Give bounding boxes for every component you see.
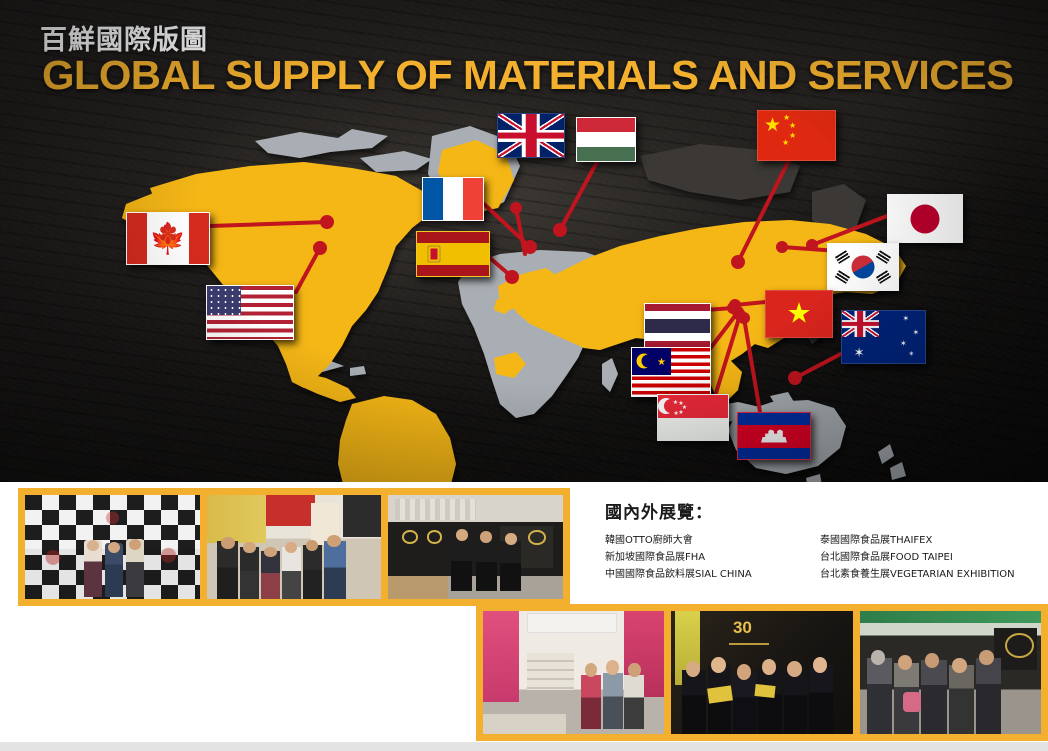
canada-flag: 🍁 ✽ bbox=[126, 212, 210, 265]
map-central-america bbox=[300, 372, 356, 402]
spain-flag bbox=[416, 231, 490, 277]
hero-section: 🍁 ✽ bbox=[0, 0, 1048, 482]
exhibitions-title: 國內外展覽： bbox=[605, 498, 1035, 523]
usa-flag bbox=[206, 285, 294, 340]
map-north-america bbox=[150, 162, 430, 388]
japan-flag bbox=[887, 194, 963, 243]
korea-flag bbox=[827, 243, 899, 291]
exhibitions-columns: 韓國OTTO廚師大會 新加坡國際食品展FHA 中國國際食品飲料展SIAL CHI… bbox=[605, 532, 1035, 583]
cambodia-flag bbox=[737, 412, 811, 460]
page-title-en: GLOBAL SUPPLY OF MATERIALS AND SERVICES bbox=[42, 52, 1013, 99]
map-south-america bbox=[338, 396, 456, 482]
china-flag: ★ ★ ★ ★ ★ bbox=[757, 110, 836, 161]
exhibition-item: 台北素食養生展VEGETARIAN EXHIBITION bbox=[820, 566, 1035, 583]
photo-30th-group: 30 bbox=[671, 611, 852, 734]
photo-pink-booth bbox=[483, 611, 664, 734]
exhibitions-left-column: 韓國OTTO廚師大會 新加坡國際食品展FHA 中國國際食品飲料展SIAL CHI… bbox=[605, 532, 820, 583]
exhibition-item: 韓國OTTO廚師大會 bbox=[605, 532, 820, 549]
france-flag bbox=[422, 177, 484, 221]
photo-linco-booth bbox=[388, 495, 563, 599]
hungary-flag bbox=[576, 117, 636, 162]
photo-otto-backdrop bbox=[25, 495, 200, 599]
exhibitions-block: 國內外展覽： 韓國OTTO廚師大會 新加坡國際食品展FHA 中國國際食品飲料展S… bbox=[605, 498, 1035, 583]
photo-crowd-booth bbox=[860, 611, 1041, 734]
exhibition-item: 中國國際食品飲料展SIAL CHINA bbox=[605, 566, 820, 583]
footer-bar bbox=[0, 742, 1048, 751]
map-madagascar bbox=[602, 358, 618, 392]
exhibition-item: 新加坡國際食品展FHA bbox=[605, 549, 820, 566]
map-tasmania bbox=[806, 474, 822, 482]
malaysia-flag: ★ bbox=[631, 347, 711, 397]
exhibition-item: 台北國際食品展FOOD TAIPEI bbox=[820, 549, 1035, 566]
gallery-panel-top bbox=[18, 488, 570, 606]
gallery-panel-bottom: 30 bbox=[476, 604, 1048, 741]
map-new-zealand bbox=[878, 444, 906, 480]
poster-page: 🍁 ✽ bbox=[0, 0, 1048, 751]
australia-flag: ✶ ✶ ✶ ✶ ✶ bbox=[841, 310, 926, 364]
vietnam-flag: ★ bbox=[765, 290, 833, 338]
exhibition-item: 泰國國際食品展THAIFEX bbox=[820, 532, 1035, 549]
photo-booth-team bbox=[207, 495, 382, 599]
uk-flag bbox=[497, 113, 565, 158]
singapore-flag: ★ ★ ★ ★ ★ bbox=[657, 394, 729, 441]
thailand-flag bbox=[644, 303, 711, 349]
exhibitions-right-column: 泰國國際食品展THAIFEX 台北國際食品展FOOD TAIPEI 台北素食養生… bbox=[820, 532, 1035, 583]
